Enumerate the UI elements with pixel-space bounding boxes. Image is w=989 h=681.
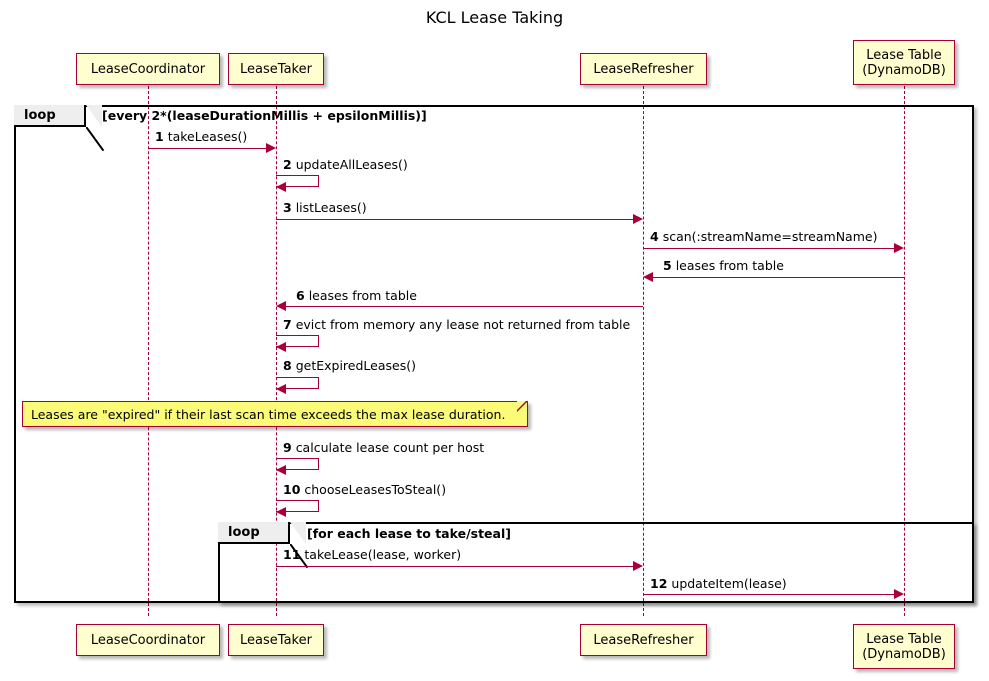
message-6-text: leases from table	[309, 288, 417, 303]
message-7-label: 7 evict from memory any lease not return…	[283, 317, 630, 332]
sequence-diagram: KCL Lease Taking loop [every 2*(leaseDur…	[0, 0, 989, 681]
message-5-text: leases from table	[676, 258, 784, 273]
message-1-line	[148, 148, 266, 149]
message-1-arrowhead	[266, 143, 276, 153]
message-11-label: 11 takeLease(lease, worker)	[283, 547, 461, 562]
message-11-arrowhead	[633, 561, 643, 571]
message-8-label: 8 getExpiredLeases()	[283, 358, 416, 373]
message-2-arrowhead	[276, 182, 286, 192]
message-12-text: updateItem(lease)	[671, 576, 786, 591]
message-3-line	[276, 219, 633, 220]
participant-leasetable-bottom-label-line2: (DynamoDB)	[862, 647, 946, 662]
participant-leaserefresher-bottom[interactable]: LeaseRefresher	[580, 624, 707, 656]
message-8-arrowhead	[276, 384, 286, 394]
message-6-label: 6 leases from table	[296, 288, 417, 303]
participant-leasetaker-top[interactable]: LeaseTaker	[228, 53, 324, 85]
participant-leasetable-bottom[interactable]: Lease Table (DynamoDB)	[853, 624, 955, 669]
message-7-text: evict from memory any lease not returned…	[296, 317, 631, 332]
message-5-line	[653, 277, 904, 278]
message-3-text: listLeases()	[296, 200, 367, 215]
message-2-text: updateAllLeases()	[296, 157, 408, 172]
message-12-number: 12	[650, 576, 667, 591]
message-4-number: 4	[650, 229, 659, 244]
message-6-line	[286, 306, 643, 307]
message-8-number: 8	[283, 358, 292, 373]
participant-leaserefresher-top[interactable]: LeaseRefresher	[580, 53, 707, 85]
participant-leasecoordinator-bottom[interactable]: LeaseCoordinator	[76, 624, 220, 656]
note-expired-leases: Leases are "expired" if their last scan …	[22, 401, 528, 427]
message-9-arrowhead	[276, 465, 286, 475]
message-4-line	[643, 248, 894, 249]
message-4-label: 4 scan(:streamName=streamName)	[650, 229, 877, 244]
message-10-text: chooseLeasesToSteal()	[304, 482, 446, 497]
participant-leasecoordinator-top-label: LeaseCoordinator	[91, 62, 205, 77]
message-11-number: 11	[283, 547, 300, 562]
message-10-number: 10	[283, 482, 300, 497]
message-9-label: 9 calculate lease count per host	[283, 440, 484, 455]
message-1-text: takeLeases()	[168, 129, 248, 144]
message-5-number: 5	[663, 258, 672, 273]
participant-leasetaker-bottom[interactable]: LeaseTaker	[228, 624, 324, 656]
message-4-arrowhead	[894, 243, 904, 253]
message-11-line	[276, 566, 633, 567]
message-1-label: 1 takeLeases()	[155, 129, 247, 144]
message-7-number: 7	[283, 317, 292, 332]
diagram-title: KCL Lease Taking	[0, 8, 989, 27]
fragment-outer-loop-condition: [every 2*(leaseDurationMillis + epsilonM…	[102, 108, 427, 123]
message-9-number: 9	[283, 440, 292, 455]
message-12-line	[643, 594, 894, 595]
message-4-text: scan(:streamName=streamName)	[663, 229, 878, 244]
participant-leasetable-top-label-line2: (DynamoDB)	[862, 63, 946, 78]
participant-leasetable-top[interactable]: Lease Table (DynamoDB)	[853, 40, 955, 85]
note-expired-leases-text: Leases are "expired" if their last scan …	[31, 407, 505, 422]
message-10-arrowhead	[276, 507, 286, 517]
message-2-number: 2	[283, 157, 292, 172]
fragment-inner-loop-tab: loop	[218, 522, 306, 544]
fragment-outer-loop-label: loop	[24, 108, 56, 123]
message-12-arrowhead	[894, 589, 904, 599]
participant-leasetaker-bottom-label: LeaseTaker	[240, 633, 312, 648]
note-fold-inner-icon	[517, 401, 526, 410]
message-9-text: calculate lease count per host	[296, 440, 484, 455]
message-5-arrowhead	[643, 272, 653, 282]
participant-leasetaker-top-label: LeaseTaker	[240, 62, 312, 77]
participant-leaserefresher-bottom-label: LeaseRefresher	[593, 633, 693, 648]
message-6-number: 6	[296, 288, 305, 303]
message-3-label: 3 listLeases()	[283, 200, 367, 215]
participant-leasetable-top-label-line1: Lease Table	[866, 48, 942, 63]
message-10-label: 10 chooseLeasesToSteal()	[283, 482, 446, 497]
message-8-text: getExpiredLeases()	[296, 358, 416, 373]
message-6-arrowhead	[276, 301, 286, 311]
message-2-label: 2 updateAllLeases()	[283, 157, 408, 172]
participant-leasecoordinator-top[interactable]: LeaseCoordinator	[76, 53, 220, 85]
participant-leasetable-bottom-label-line1: Lease Table	[866, 632, 942, 647]
message-1-number: 1	[155, 129, 164, 144]
message-5-label: 5 leases from table	[663, 258, 784, 273]
fragment-inner-loop-label: loop	[228, 525, 260, 540]
message-11-text: takeLease(lease, worker)	[304, 547, 461, 562]
message-3-number: 3	[283, 200, 292, 215]
message-3-arrowhead	[633, 214, 643, 224]
message-7-arrowhead	[276, 342, 286, 352]
message-12-label: 12 updateItem(lease)	[650, 576, 787, 591]
participant-leaserefresher-top-label: LeaseRefresher	[593, 62, 693, 77]
participant-leasecoordinator-bottom-label: LeaseCoordinator	[91, 633, 205, 648]
fragment-inner-loop-condition: [for each lease to take/steal]	[307, 526, 511, 541]
fragment-outer-loop-tab: loop	[14, 105, 102, 127]
